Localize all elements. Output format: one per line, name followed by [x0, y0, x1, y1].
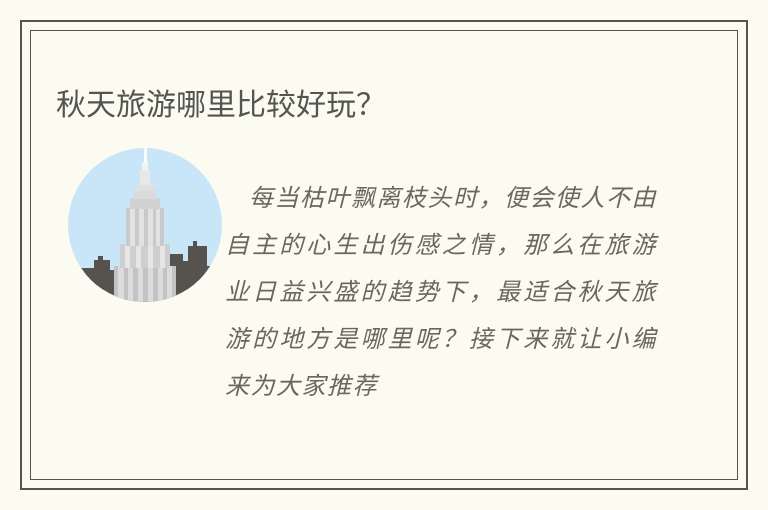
article-body-text: 每当枯叶飘离枝头时，便会使人不由自主的心生出伤感之情，那么在旅游业日益兴盛的趋势…: [225, 175, 657, 410]
page-title: 秋天旅游哪里比较好玩？: [56, 86, 386, 126]
article-content: 秋天旅游哪里比较好玩？: [29, 29, 739, 481]
empire-state-building-illustration: [68, 148, 222, 302]
article-card-page: 秋天旅游哪里比较好玩？: [0, 0, 768, 510]
